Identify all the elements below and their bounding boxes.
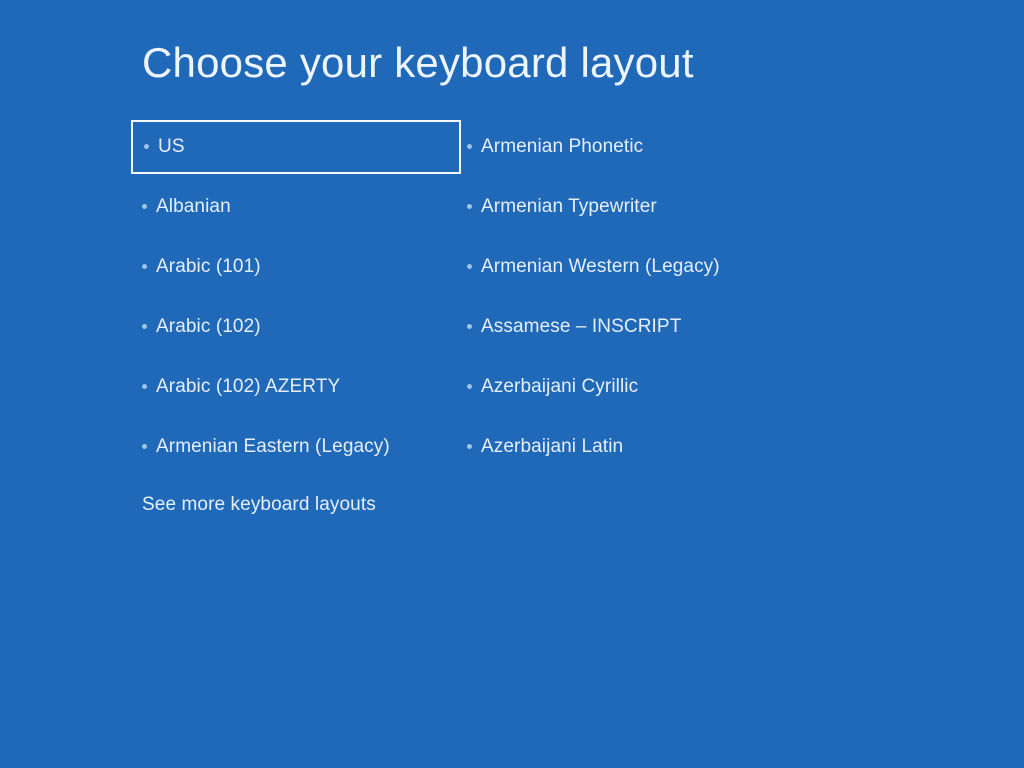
keyboard-layout-option-label: Azerbaijani Cyrillic (481, 375, 638, 399)
keyboard-layout-option-label: Assamese – INSCRIPT (481, 315, 681, 339)
keyboard-layout-option-label: Azerbaijani Latin (481, 435, 623, 459)
keyboard-layout-list: USAlbanianArabic (101)Arabic (102)Arabic… (0, 120, 1024, 540)
keyboard-layout-option-label: Armenian Western (Legacy) (481, 255, 720, 279)
keyboard-layout-option[interactable]: Arabic (102) AZERTY (131, 360, 461, 414)
keyboard-layout-option[interactable]: Arabic (101) (131, 240, 461, 294)
layout-column-left: USAlbanianArabic (101)Arabic (102)Arabic… (131, 120, 461, 480)
keyboard-layout-option-label: Albanian (156, 195, 231, 219)
bullet-icon (467, 144, 472, 149)
keyboard-layout-option-label: Arabic (102) AZERTY (156, 375, 340, 399)
bullet-icon (467, 324, 472, 329)
keyboard-layout-screen: Choose your keyboard layout USAlbanianAr… (0, 0, 1024, 768)
keyboard-layout-option-label: Armenian Phonetic (481, 135, 643, 159)
keyboard-layout-option[interactable]: Armenian Eastern (Legacy) (131, 420, 461, 474)
keyboard-layout-option[interactable]: US (131, 120, 461, 174)
layout-column-right: Armenian PhoneticArmenian TypewriterArme… (460, 120, 860, 480)
keyboard-layout-option-label: Arabic (102) (156, 315, 261, 339)
keyboard-layout-option-label: Armenian Eastern (Legacy) (156, 435, 390, 459)
keyboard-layout-option[interactable]: Azerbaijani Cyrillic (460, 360, 860, 414)
keyboard-layout-option[interactable]: Armenian Typewriter (460, 180, 860, 234)
keyboard-layout-option[interactable]: Arabic (102) (131, 300, 461, 354)
keyboard-layout-option-label: Arabic (101) (156, 255, 261, 279)
bullet-icon (142, 204, 147, 209)
bullet-icon (467, 384, 472, 389)
bullet-icon (142, 444, 147, 449)
bullet-icon (142, 384, 147, 389)
see-more-keyboard-layouts-link[interactable]: See more keyboard layouts (142, 493, 376, 517)
bullet-icon (142, 324, 147, 329)
page-title: Choose your keyboard layout (142, 38, 694, 88)
keyboard-layout-option[interactable]: Armenian Phonetic (460, 120, 860, 174)
bullet-icon (467, 204, 472, 209)
keyboard-layout-option[interactable]: Armenian Western (Legacy) (460, 240, 860, 294)
keyboard-layout-option-label: US (158, 135, 185, 159)
bullet-icon (144, 144, 149, 149)
keyboard-layout-option[interactable]: Albanian (131, 180, 461, 234)
bullet-icon (467, 444, 472, 449)
bullet-icon (467, 264, 472, 269)
bullet-icon (142, 264, 147, 269)
keyboard-layout-option-label: Armenian Typewriter (481, 195, 657, 219)
keyboard-layout-option[interactable]: Azerbaijani Latin (460, 420, 860, 474)
keyboard-layout-option[interactable]: Assamese – INSCRIPT (460, 300, 860, 354)
